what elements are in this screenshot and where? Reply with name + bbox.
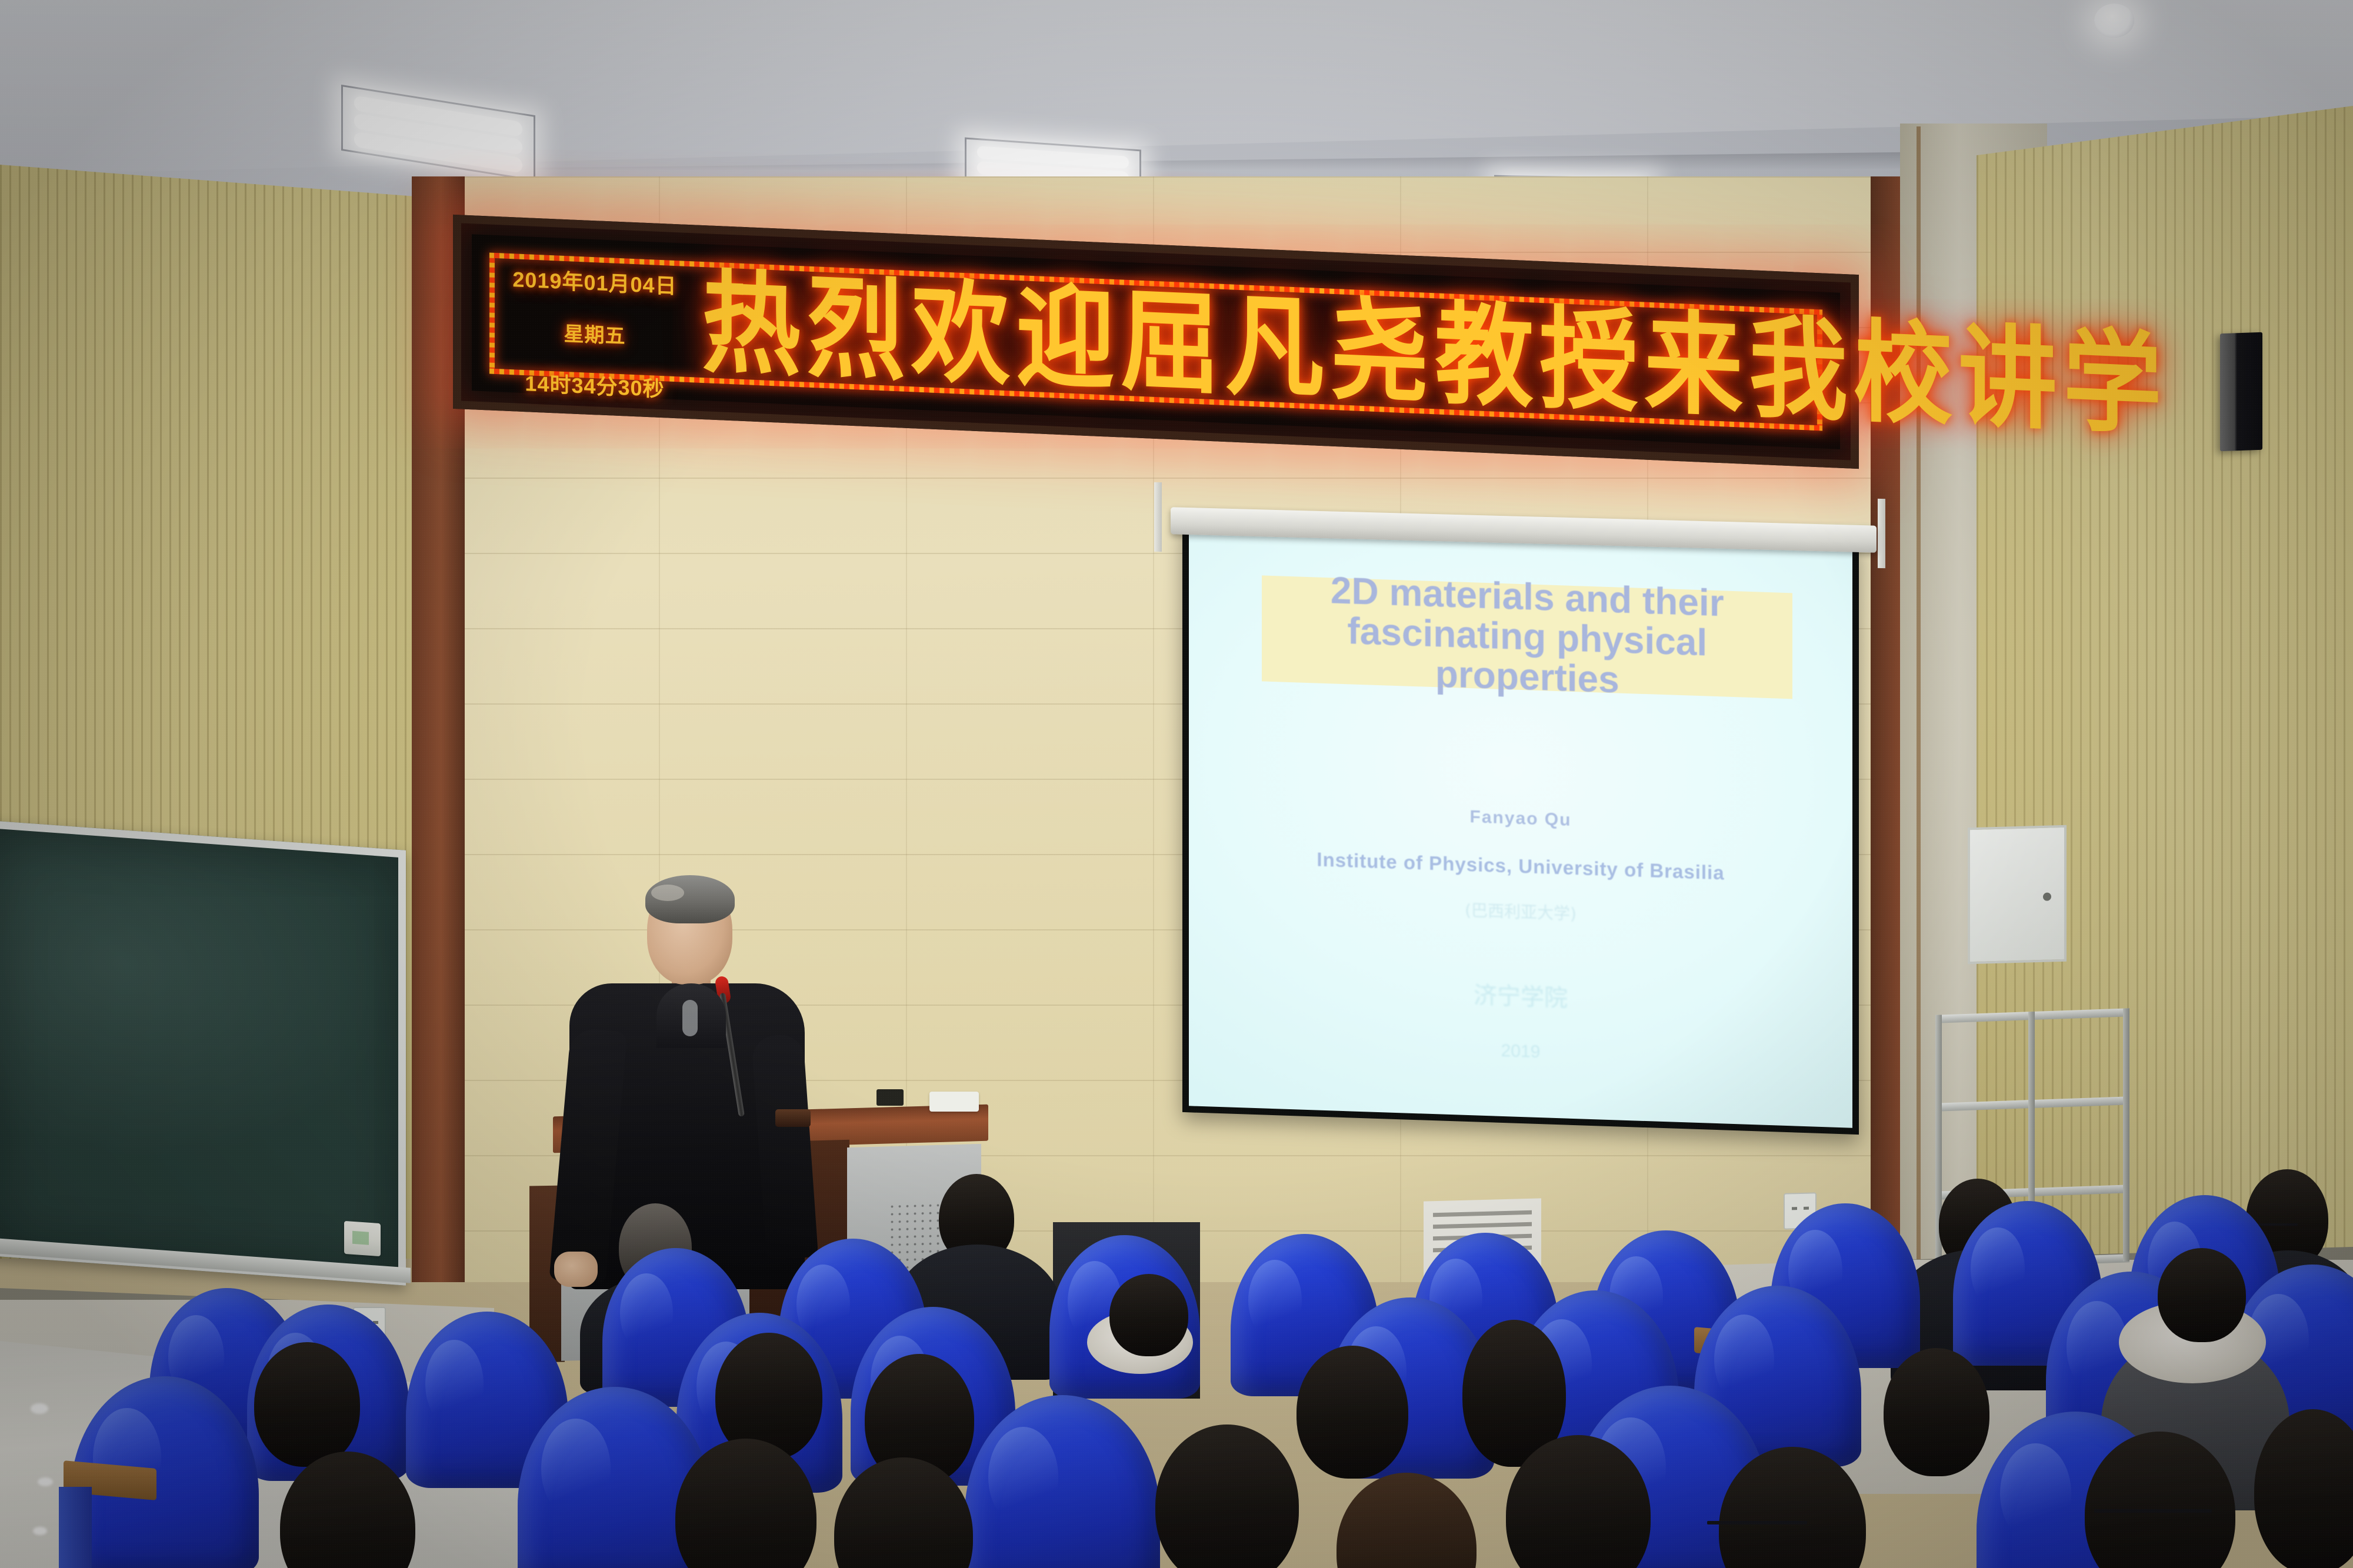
audience-head: [1337, 1473, 1477, 1568]
lecture-hall-photo: 2019年01月04日 星期五 14时34分30秒 热烈欢迎屈凡尧教授来我校讲学…: [0, 0, 2353, 1568]
chalkboard-eraser: [344, 1221, 381, 1256]
audience-head: [1884, 1348, 1989, 1476]
seat-armrest-post: [59, 1487, 92, 1568]
audience-head: [1155, 1424, 1299, 1568]
slide-surface: 2D materials and their fascinating physi…: [1189, 525, 1852, 1127]
slide-title-line2: fascinating physical properties: [1262, 608, 1792, 706]
slide-affiliation-cn: (巴西利亚大学): [1189, 888, 1852, 933]
led-time: 14时34分30秒: [506, 366, 683, 404]
speaker-hand: [554, 1252, 598, 1287]
lectern-remote[interactable]: [876, 1089, 904, 1106]
audience-head: [2158, 1248, 2246, 1342]
wall-access-panel: [1968, 825, 2067, 964]
wall-pillar-edge: [1917, 126, 1921, 1291]
pa-speaker: [2220, 332, 2262, 452]
projection-screen: 2D materials and their fascinating physi…: [1182, 518, 1859, 1135]
screen-bracket-left: [1154, 482, 1162, 552]
screen-bracket-right: [1878, 499, 1885, 568]
led-screen: 2019年01月04日 星期五 14时34分30秒 热烈欢迎屈凡尧教授来我校讲学: [472, 234, 1840, 449]
audience-head: [254, 1342, 360, 1467]
audience-head: [1109, 1274, 1188, 1356]
slide-host-institution: 济宁学院: [1189, 966, 1852, 1022]
eyeglasses: [2094, 1509, 2212, 1513]
led-weekday: 星期五: [506, 315, 683, 351]
led-clock: 2019年01月04日 星期五 14时34分30秒: [506, 262, 683, 404]
led-message: 热烈欢迎屈凡尧教授来我校讲学: [702, 261, 1810, 432]
eyeglasses: [1707, 1521, 1807, 1524]
lectern-papers: [929, 1092, 979, 1112]
floor-reflection: [31, 1403, 48, 1414]
floor-reflection: [33, 1527, 47, 1535]
floor-reflection: [38, 1477, 53, 1486]
audience-head: [1297, 1346, 1408, 1479]
speaker-collar: [656, 983, 726, 1048]
slide-title-band: 2D materials and their fascinating physi…: [1262, 575, 1792, 699]
ceiling-downlight: [2094, 4, 2134, 38]
chalkboard: [0, 820, 406, 1286]
slide-year: 2019: [1189, 1030, 1852, 1072]
speaker-hair: [645, 875, 735, 923]
slide-author: Fanyao Qu: [1189, 798, 1852, 840]
slide-affiliation: Institute of Physics, University of Bras…: [1189, 845, 1852, 889]
microphone-base: [775, 1109, 811, 1127]
